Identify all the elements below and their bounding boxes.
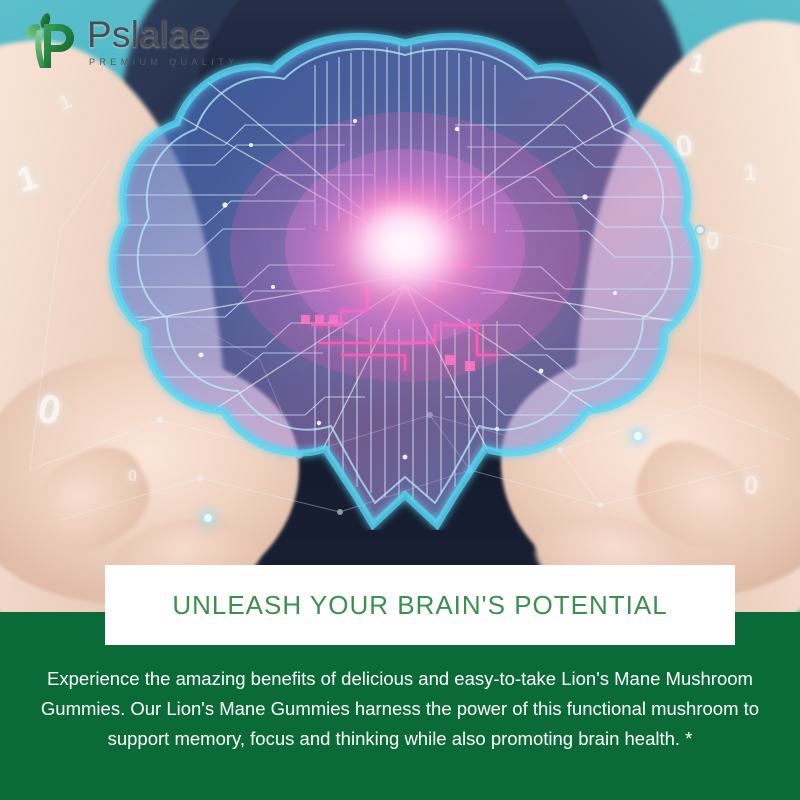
network-node (204, 514, 212, 522)
page-title: UNLEASH YOUR BRAIN'S POTENTIAL (172, 590, 667, 621)
brand-logo[interactable]: Pslalae PREMIUM QUALITY (22, 10, 239, 72)
leaf-p-monogram-icon (22, 10, 80, 72)
brand-name: Pslalae (87, 16, 239, 53)
product-banner: 1 0 1 0 0 1 0 1 0 0 UNLEASH YOUR BRAIN'S… (0, 0, 800, 800)
headline-band: UNLEASH YOUR BRAIN'S POTENTIAL (105, 565, 735, 645)
floating-bit-7: 0 (706, 228, 719, 256)
hero-photo: 1 0 1 0 0 1 0 1 0 0 (0, 0, 800, 625)
brand-tagline: PREMIUM QUALITY (89, 57, 239, 67)
network-node (634, 432, 642, 440)
floating-bit-10: 0 (128, 468, 137, 486)
holographic-brain (105, 25, 705, 530)
description-text: Experience the amazing benefits of delic… (40, 664, 760, 754)
brand-wordmark-group: Pslalae PREMIUM QUALITY (87, 16, 239, 67)
floating-bit-9: 0 (744, 470, 758, 501)
floating-bit-6: 1 (744, 160, 756, 186)
holographic-brain-icon (105, 25, 705, 530)
